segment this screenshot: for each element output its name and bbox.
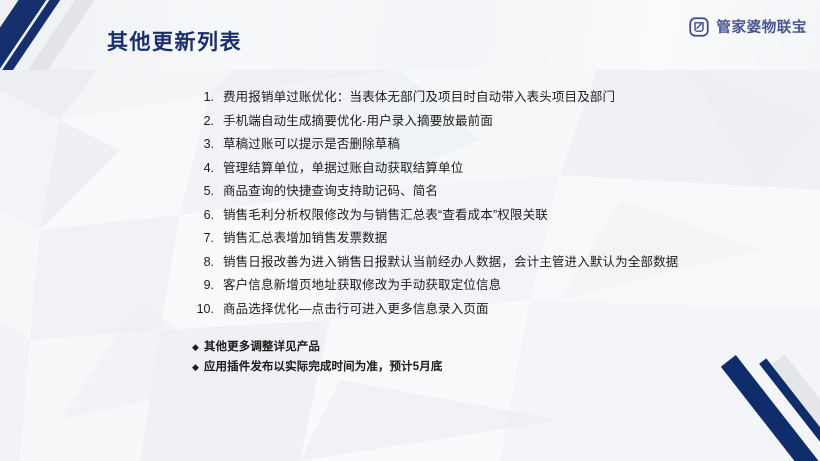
brand-logo: 管家婆物联宝 <box>689 16 807 37</box>
diamond-bullet-icon: ◆ <box>192 343 199 352</box>
list-item-text: 管理结算单位，单据过账自动获取结算单位 <box>223 157 463 176</box>
list-item: 4. 管理结算单位，单据过账自动获取结算单位 <box>186 157 786 181</box>
list-item: 3. 草稿过账可以提示是否删除草稿 <box>186 133 786 157</box>
list-item-number: 9. <box>186 278 214 292</box>
list-item-text: 商品选择优化—点击行可进入更多信息录入页面 <box>223 298 489 317</box>
list-item: 2. 手机端自动生成摘要优化-用户录入摘要放最前面 <box>186 110 786 134</box>
list-item: 6. 销售毛利分析权限修改为与销售汇总表“查看成本”权限关联 <box>186 204 786 228</box>
list-item-text: 客户信息新增页地址获取修改为手动获取定位信息 <box>223 274 501 293</box>
update-list: 1. 费用报销单过账优化：当表体无部门及项目时自动带入表头项目及部门 2. 手机… <box>186 86 786 321</box>
list-item-text: 草稿过账可以提示是否删除草稿 <box>223 133 400 152</box>
footnote-text: 其他更多调整详见产品 <box>204 338 320 354</box>
list-item-text: 销售日报改善为进入销售日报默认当前经办人数据，会计主管进入默认为全部数据 <box>223 251 678 270</box>
list-item-number: 2. <box>186 114 214 128</box>
diamond-bullet-icon: ◆ <box>192 363 199 372</box>
list-item: 8. 销售日报改善为进入销售日报默认当前经办人数据，会计主管进入默认为全部数据 <box>186 251 786 275</box>
footnote-item: ◆ 其他更多调整详见产品 <box>192 338 786 358</box>
footnote-list: ◆ 其他更多调整详见产品 ◆ 应用插件发布以实际完成时间为准，预计5月底 <box>186 338 786 378</box>
list-item-text: 手机端自动生成摘要优化-用户录入摘要放最前面 <box>223 110 493 129</box>
page-title: 其他更新列表 <box>107 26 242 56</box>
slide-canvas: 其他更新列表 管家婆物联宝 1. 费用报销单过账优化：当表体无部门及项目时自动带… <box>0 0 820 461</box>
footnote-item: ◆ 应用插件发布以实际完成时间为准，预计5月底 <box>192 358 786 378</box>
list-item-number: 8. <box>186 255 214 269</box>
list-item-number: 3. <box>186 137 214 151</box>
list-item-text: 费用报销单过账优化：当表体无部门及项目时自动带入表头项目及部门 <box>223 86 615 105</box>
list-item: 7. 销售汇总表增加销售发票数据 <box>186 227 786 251</box>
list-item-number: 6. <box>186 208 214 222</box>
list-item: 10. 商品选择优化—点击行可进入更多信息录入页面 <box>186 298 786 322</box>
list-item: 9. 客户信息新增页地址获取修改为手动获取定位信息 <box>186 274 786 298</box>
list-item-text: 销售汇总表增加销售发票数据 <box>223 227 387 246</box>
list-item: 1. 费用报销单过账优化：当表体无部门及项目时自动带入表头项目及部门 <box>186 86 786 110</box>
list-item-text: 销售毛利分析权限修改为与销售汇总表“查看成本”权限关联 <box>223 204 548 223</box>
list-item-number: 10. <box>186 302 214 316</box>
slide-content: 1. 费用报销单过账优化：当表体无部门及项目时自动带入表头项目及部门 2. 手机… <box>186 86 786 378</box>
list-item-number: 5. <box>186 184 214 198</box>
brand-name: 管家婆物联宝 <box>716 16 807 37</box>
list-item-number: 1. <box>186 90 214 104</box>
app-badge-icon <box>689 17 709 37</box>
list-item-number: 4. <box>186 161 214 175</box>
list-item: 5. 商品查询的快捷查询支持助记码、简名 <box>186 180 786 204</box>
list-item-text: 商品查询的快捷查询支持助记码、简名 <box>223 180 438 199</box>
list-item-number: 7. <box>186 231 214 245</box>
footnote-text: 应用插件发布以实际完成时间为准，预计5月底 <box>204 358 443 374</box>
